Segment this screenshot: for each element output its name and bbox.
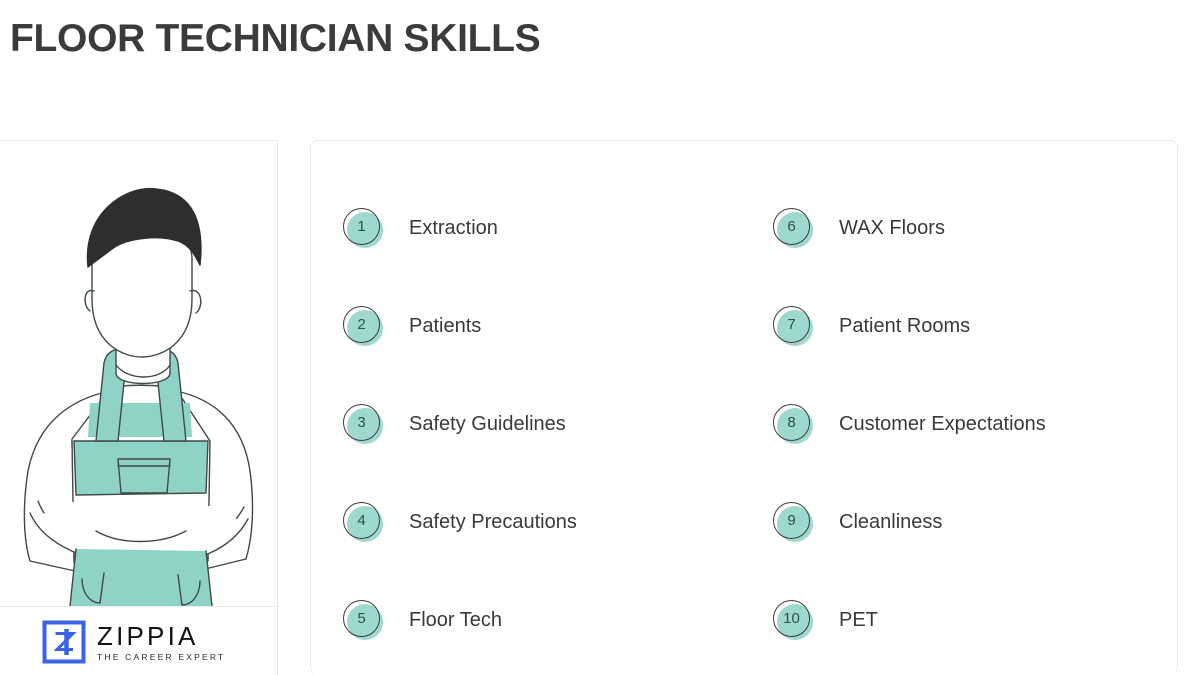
badge-number: 7 [773,306,810,343]
skill-item-4[interactable]: 4 Safety Precautions [343,473,773,571]
skill-label: WAX Floors [839,217,945,240]
skill-label: Safety Precautions [409,511,577,534]
badge-number: 4 [343,502,380,539]
illustration-panel: ZIPPIA THE CAREER EXPERT [0,140,278,675]
skill-label: PET [839,609,878,632]
skills-card: 1 Extraction 6 WAX Floors 2 Pat [310,140,1178,675]
infographic-page: FLOOR TECHNICIAN SKILLS [0,0,1200,675]
skill-number-badge: 3 [343,404,383,444]
skill-number-badge: 1 [343,208,383,248]
skill-item-9[interactable]: 9 Cleanliness [773,473,1177,571]
skill-label: Cleanliness [839,511,942,534]
page-title: FLOOR TECHNICIAN SKILLS [10,17,540,61]
skill-number-badge: 10 [773,600,813,640]
skill-number-badge: 8 [773,404,813,444]
badge-number: 6 [773,208,810,245]
technician-figure-icon [0,141,278,606]
badge-number: 5 [343,600,380,637]
skill-item-6[interactable]: 6 WAX Floors [773,179,1177,277]
skill-item-3[interactable]: 3 Safety Guidelines [343,375,773,473]
badge-number: 10 [773,600,810,637]
skill-label: Patients [409,315,481,338]
skill-label: Safety Guidelines [409,413,566,436]
floor-technician-illustration [0,141,278,606]
zippia-logo: ZIPPIA THE CAREER EXPERT [0,606,278,675]
skill-item-10[interactable]: 10 PET [773,571,1177,669]
badge-number: 2 [343,306,380,343]
skill-number-badge: 5 [343,600,383,640]
skill-item-2[interactable]: 2 Patients [343,277,773,375]
badge-number: 1 [343,208,380,245]
skill-label: Extraction [409,217,498,240]
skill-number-badge: 7 [773,306,813,346]
skill-item-8[interactable]: 8 Customer Expectations [773,375,1177,473]
skill-label: Floor Tech [409,609,502,632]
skill-number-badge: 9 [773,502,813,542]
badge-number: 3 [343,404,380,441]
skill-label: Customer Expectations [839,413,1046,436]
skill-label: Patient Rooms [839,315,970,338]
zippia-z-mark-icon [42,620,86,664]
skill-number-badge: 6 [773,208,813,248]
skill-item-5[interactable]: 5 Floor Tech [343,571,773,669]
skill-item-1[interactable]: 1 Extraction [343,179,773,277]
skill-number-badge: 4 [343,502,383,542]
skills-grid: 1 Extraction 6 WAX Floors 2 Pat [311,179,1177,675]
badge-number: 9 [773,502,810,539]
skill-number-badge: 2 [343,306,383,346]
badge-number: 8 [773,404,810,441]
skill-item-7[interactable]: 7 Patient Rooms [773,277,1177,375]
zippia-tagline: THE CAREER EXPERT [97,653,225,662]
zippia-wordmark: ZIPPIA [97,623,225,649]
